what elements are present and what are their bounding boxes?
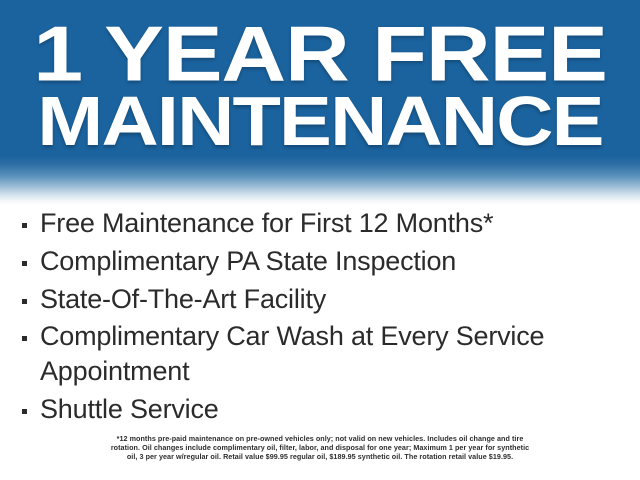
disclaimer-line-1: *12 months pre-paid maintenance on pre-o…	[14, 434, 626, 443]
disclaimer-line-3: oil, 3 per year w/regular oil. Retail va…	[14, 452, 626, 461]
list-item: State-Of-The-Art Facility	[0, 282, 640, 317]
benefit-text: Complimentary Car Wash at Every Service …	[40, 319, 640, 389]
square-bullet-icon	[22, 261, 27, 266]
benefit-text: State-Of-The-Art Facility	[40, 282, 640, 317]
list-item: Complimentary PA State Inspection	[0, 244, 640, 279]
disclaimer-line-2: rotation. Oil changes include compliment…	[14, 443, 626, 452]
list-item: Shuttle Service	[0, 392, 640, 427]
square-bullet-icon	[22, 223, 27, 228]
benefit-text: Free Maintenance for First 12 Months*	[40, 206, 640, 241]
benefit-text: Shuttle Service	[40, 392, 640, 427]
disclaimer: *12 months pre-paid maintenance on pre-o…	[0, 434, 640, 462]
header-banner: 1 YEAR FREE MAINTENANCE	[0, 0, 640, 205]
benefit-text: Complimentary PA State Inspection	[40, 244, 640, 279]
promo-card: 1 YEAR FREE MAINTENANCE Free Maintenance…	[0, 0, 640, 480]
list-item: Free Maintenance for First 12 Months*	[0, 206, 640, 241]
benefits-list: Free Maintenance for First 12 Months* Co…	[0, 206, 640, 430]
square-bullet-icon	[22, 409, 27, 414]
square-bullet-icon	[22, 336, 27, 341]
headline-line-2: MAINTENANCE	[0, 86, 640, 155]
square-bullet-icon	[22, 299, 27, 304]
list-item: Complimentary Car Wash at Every Service …	[0, 319, 640, 389]
